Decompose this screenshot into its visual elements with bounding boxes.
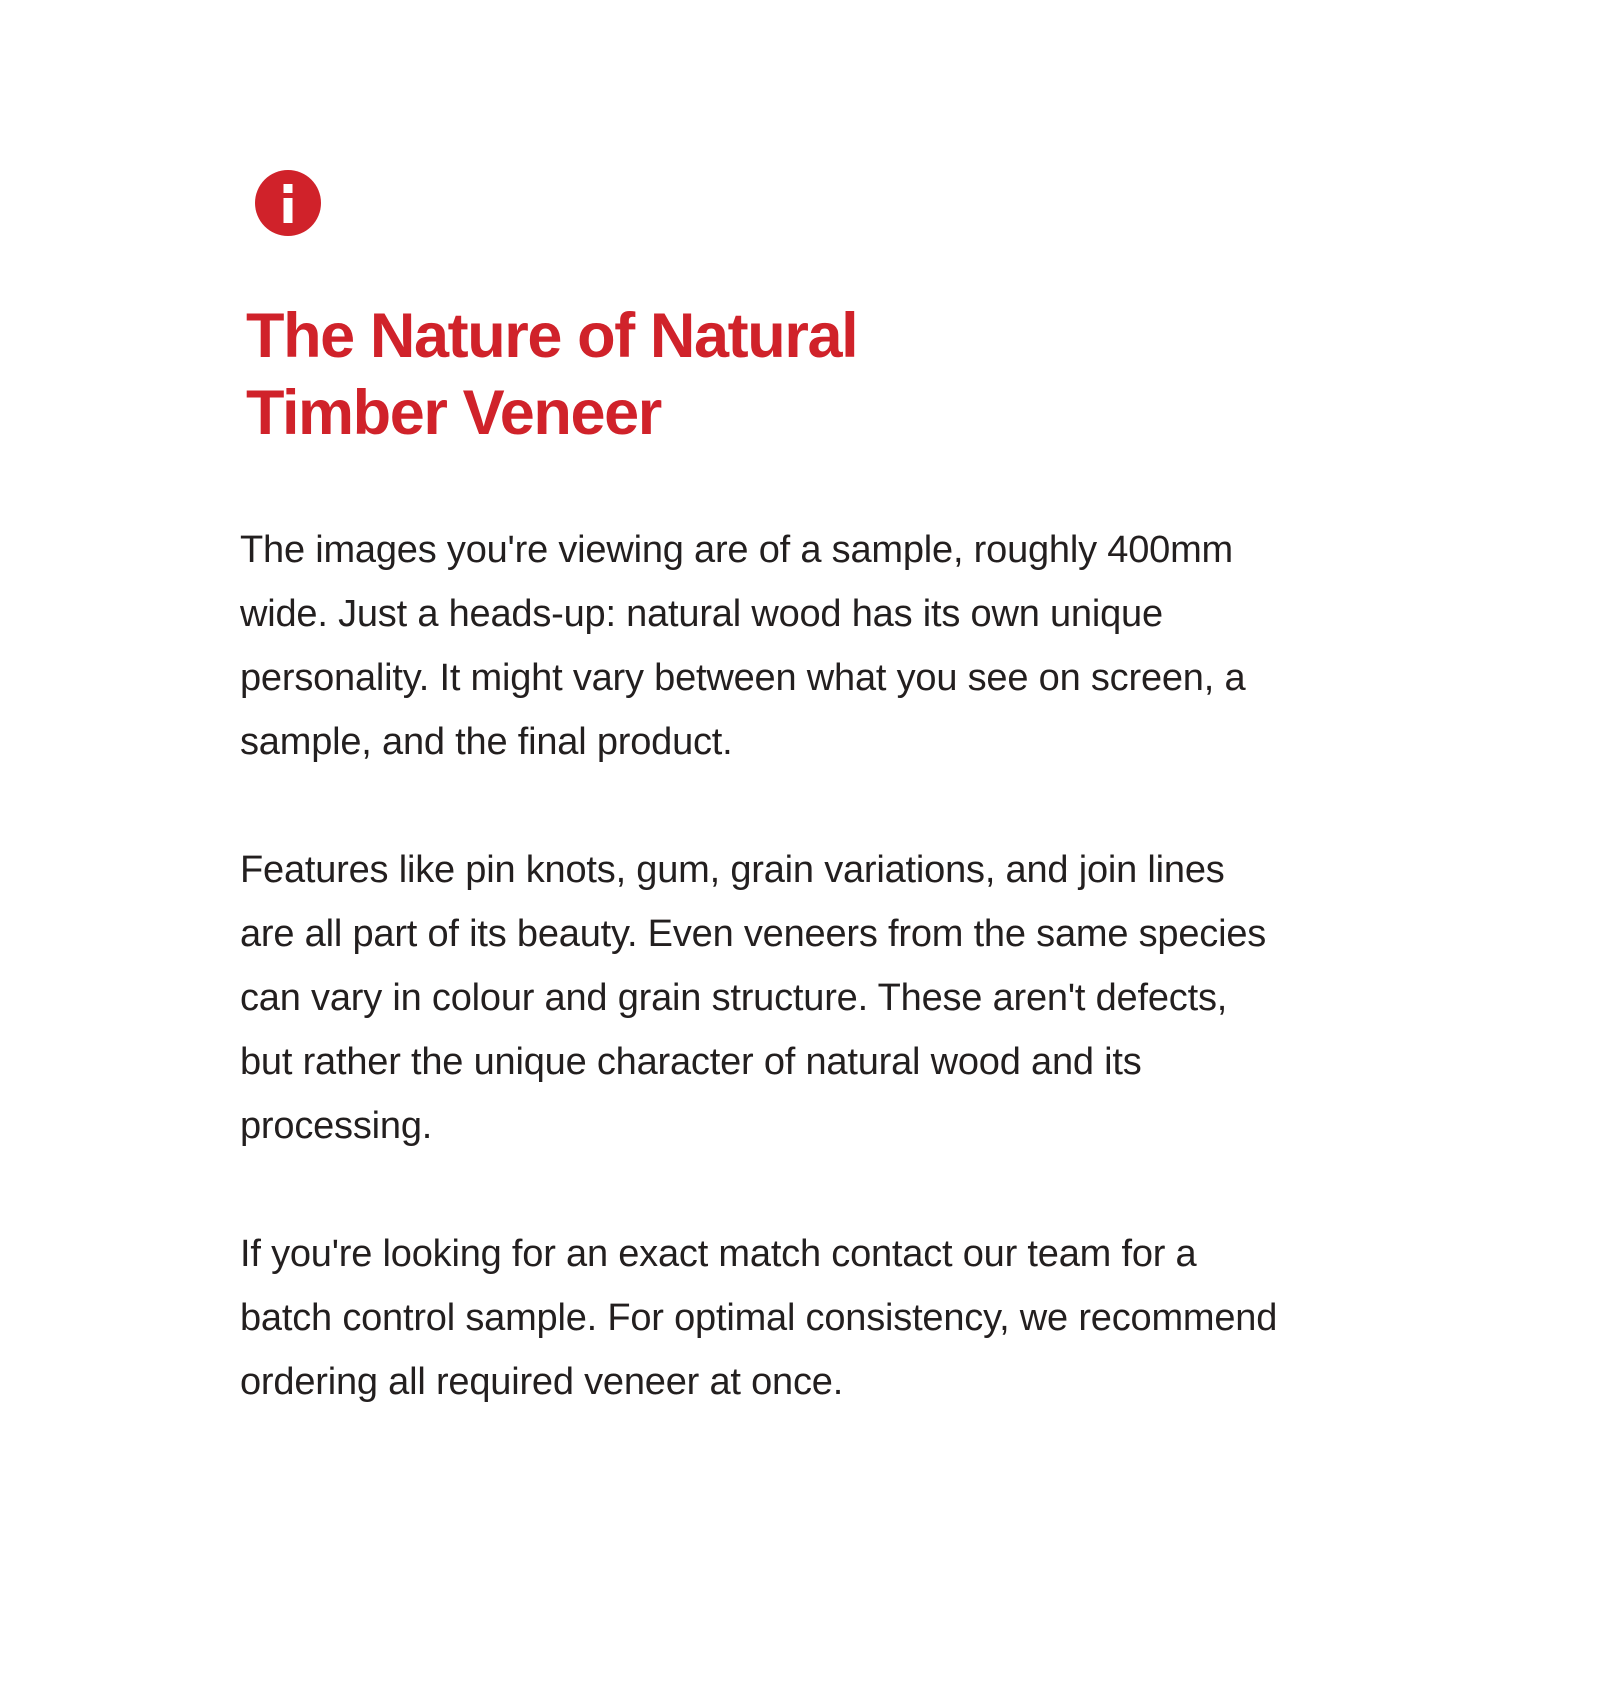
info-icon-dot — [284, 184, 293, 193]
info-panel: The Nature of Natural Timber Veneer The … — [0, 0, 1620, 1686]
icon-row — [255, 170, 1300, 248]
paragraph-exact-match-advice: If you're looking for an exact match con… — [240, 1222, 1285, 1414]
panel-content: The Nature of Natural Timber Veneer The … — [240, 170, 1300, 1414]
paragraph-sample-disclaimer: The images you're viewing are of a sampl… — [240, 518, 1285, 774]
info-icon-stem — [284, 198, 293, 223]
page-title: The Nature of Natural Timber Veneer — [246, 298, 1006, 452]
info-icon — [255, 170, 321, 236]
body-copy: The images you're viewing are of a sampl… — [240, 518, 1285, 1414]
paragraph-natural-features: Features like pin knots, gum, grain vari… — [240, 838, 1285, 1158]
